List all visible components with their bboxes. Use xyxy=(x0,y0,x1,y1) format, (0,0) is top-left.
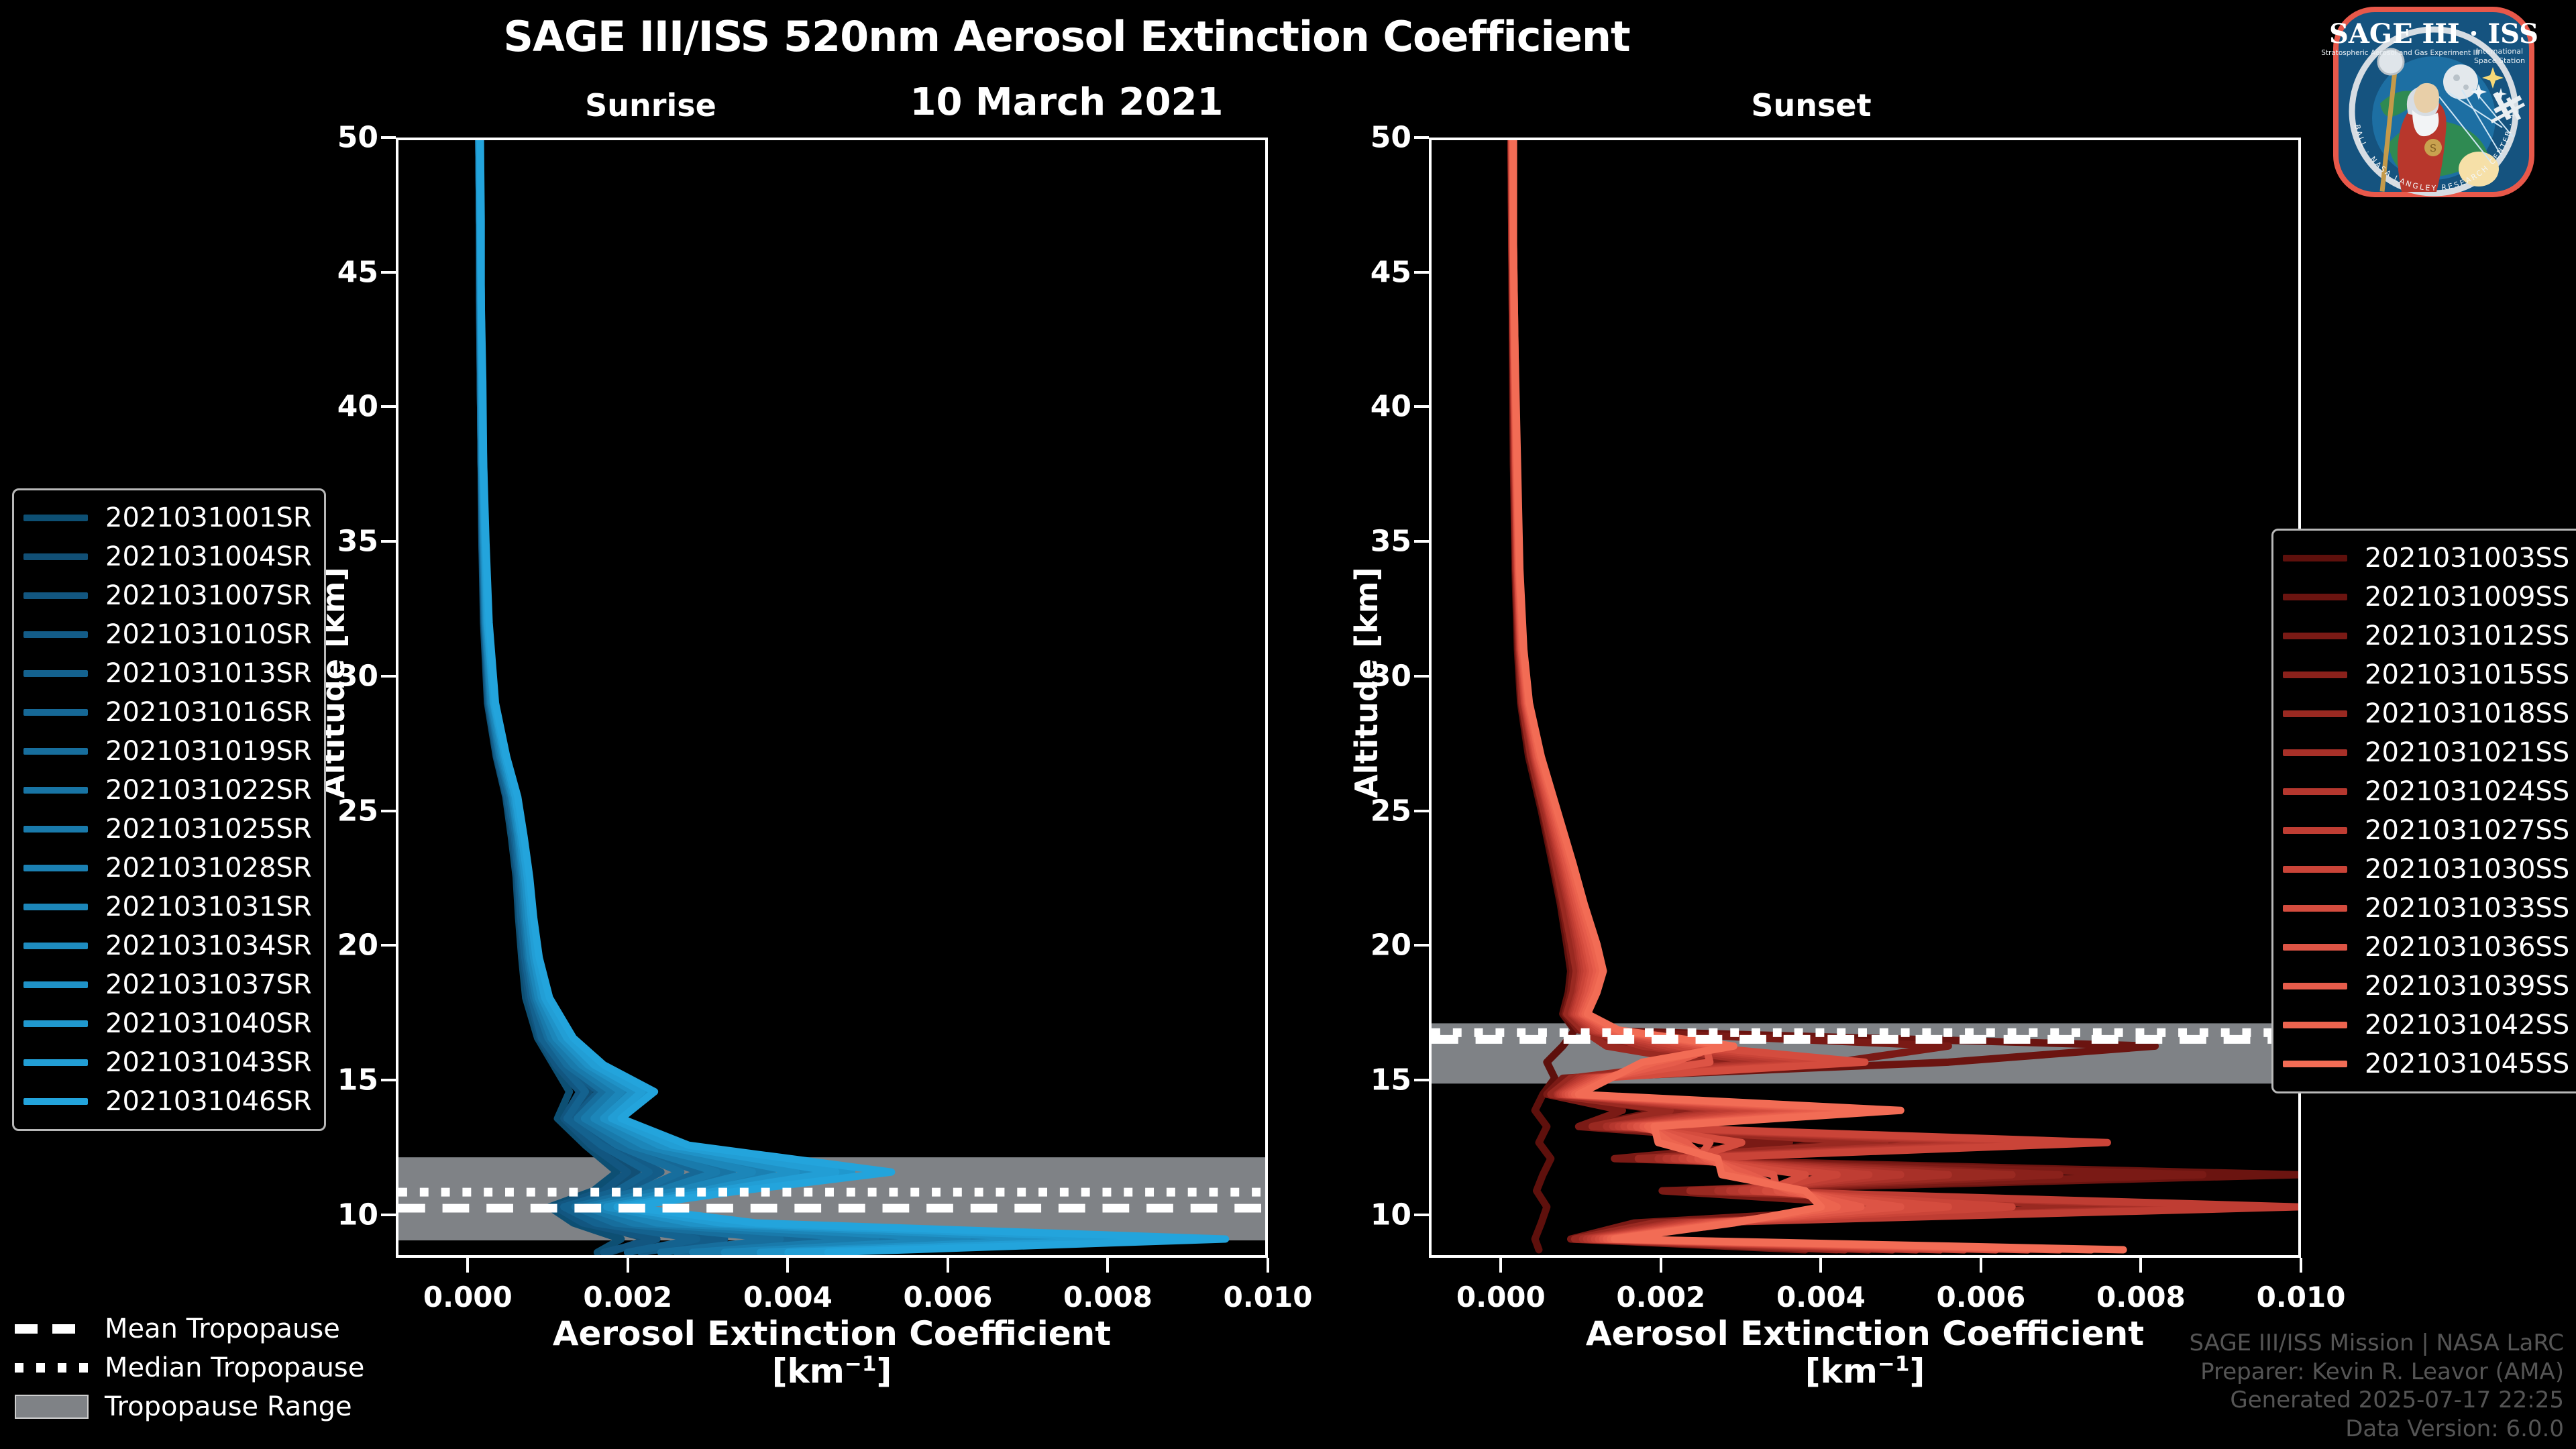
legend-color-swatch xyxy=(2283,1022,2347,1028)
logo-svg: S BALL · NASA LANGLEY RESEARCH CENTER · … xyxy=(2301,3,2569,197)
y-axis-tick-mark xyxy=(1414,675,1429,678)
legend-item-label: 2021031018SS xyxy=(2365,698,2569,729)
legend-item-label: 2021031036SS xyxy=(2365,932,2569,963)
legend-item-label: 2021031016SR xyxy=(105,697,312,728)
x-axis-tick-mark xyxy=(627,1258,629,1273)
y-axis-tick-label: 50 xyxy=(1371,121,1411,155)
tropopause-legend-label: Mean Tropopause xyxy=(105,1313,340,1344)
x-axis-tick-mark xyxy=(947,1258,949,1273)
plot-panel-sunset: 1015202530354045500.0000.0020.0040.0060.… xyxy=(1429,138,2301,1258)
logo-subtitle-right-1: International xyxy=(2476,47,2523,56)
logo-subtitle-left: Stratospheric Aerosol and Gas Experiment… xyxy=(2321,49,2479,57)
legend-item-label: 2021031045SS xyxy=(2365,1049,2569,1079)
legend-item-label: 2021031027SS xyxy=(2365,815,2569,846)
x-axis-tick-mark xyxy=(1819,1258,1822,1273)
x-axis-tick-mark xyxy=(2139,1258,2142,1273)
legend-item[interactable]: 2021031039SS xyxy=(2283,967,2569,1006)
y-axis-tick-mark xyxy=(381,540,396,543)
y-axis-tick-mark xyxy=(381,136,396,139)
x-axis-tick-label: 0.010 xyxy=(2257,1281,2346,1313)
legend-color-swatch xyxy=(2283,905,2347,912)
tropopause-legend-key-dotted xyxy=(15,1363,89,1373)
x-axis-tick-mark xyxy=(466,1258,469,1273)
legend-item-label: 2021031037SR xyxy=(105,969,312,1000)
x-axis-label-text: Aerosol Extinction Coefficient xyxy=(553,1314,1111,1353)
logo-subtitle-right-2: Space Station xyxy=(2474,56,2525,65)
x-axis-tick-label: 0.006 xyxy=(1936,1281,2025,1313)
y-axis-tick-mark xyxy=(1414,944,1429,947)
y-axis-tick-label: 50 xyxy=(337,121,378,155)
legend-color-swatch xyxy=(23,904,88,910)
tropopause-legend-item[interactable]: Tropopause Range xyxy=(15,1387,364,1426)
legend-item[interactable]: 2021031009SS xyxy=(2283,578,2569,616)
legend-item-label: 2021031028SR xyxy=(105,853,312,883)
x-axis-tick-label: 0.006 xyxy=(903,1281,992,1313)
profile-line xyxy=(479,140,875,1252)
legend-color-swatch xyxy=(23,592,88,599)
legend-item[interactable]: 2021031018SS xyxy=(2283,694,2569,733)
x-axis-tick-mark xyxy=(1106,1258,1109,1273)
legend-item[interactable]: 2021031037SR xyxy=(23,965,312,1004)
y-axis-tick-label: 45 xyxy=(1371,255,1411,289)
y-axis-tick-mark xyxy=(381,405,396,408)
x-axis-tick-label: 0.002 xyxy=(583,1281,672,1313)
x-axis-tick-label: 0.004 xyxy=(1776,1281,1866,1313)
x-axis-tick-mark xyxy=(1267,1258,1269,1273)
legend-color-swatch xyxy=(23,981,88,988)
y-axis-tick-mark xyxy=(381,675,396,678)
legend-tropopause[interactable]: Mean TropopauseMedian TropopauseTropopau… xyxy=(15,1309,364,1426)
legend-item-label: 2021031013SR xyxy=(105,658,312,689)
x-axis-unit: [km−1] xyxy=(396,1352,1268,1390)
x-axis-tick-label: 0.010 xyxy=(1224,1281,1313,1313)
legend-item[interactable]: 2021031036SS xyxy=(2283,928,2569,967)
plot-panel-sunrise: 1015202530354045500.0000.0020.0040.0060.… xyxy=(396,138,1268,1258)
svg-text:S: S xyxy=(2430,142,2436,154)
y-axis-tick-mark xyxy=(381,944,396,947)
y-axis-label-sunset: Altitude [km] xyxy=(1348,567,1385,798)
logo-title: SAGE III · ISS xyxy=(2329,18,2538,50)
legend-item-label: 2021031009SS xyxy=(2365,582,2569,612)
y-axis-tick-label: 10 xyxy=(337,1197,378,1232)
profile-line xyxy=(480,140,916,1252)
y-axis-tick-mark xyxy=(1414,405,1429,408)
legend-item-label: 2021031031SR xyxy=(105,892,312,922)
credits-line: SAGE III/ISS Mission | NASA LaRC xyxy=(2189,1329,2564,1358)
legend-sunset[interactable]: 2021031003SS2021031009SS2021031012SS2021… xyxy=(2271,529,2576,1093)
profile-line xyxy=(480,140,828,1252)
profile-line xyxy=(480,140,967,1252)
legend-item-label: 2021031046SR xyxy=(105,1086,312,1117)
y-axis-tick-label: 20 xyxy=(337,928,378,963)
x-axis-label-text: Aerosol Extinction Coefficient xyxy=(1586,1314,2144,1353)
legend-item-label: 2021031039SS xyxy=(2365,971,2569,1002)
legend-color-swatch xyxy=(23,1098,88,1105)
legend-item[interactable]: 2021031027SS xyxy=(2283,811,2569,850)
x-axis-label-sunrise: Aerosol Extinction Coefficient [km−1] xyxy=(396,1315,1268,1390)
tropopause-legend-item[interactable]: Mean Tropopause xyxy=(15,1309,364,1348)
legend-item[interactable]: 2021031034SR xyxy=(23,926,312,965)
y-axis-tick-label: 35 xyxy=(337,525,378,559)
y-axis-tick-label: 20 xyxy=(1371,928,1411,963)
legend-item[interactable]: 2021031003SS xyxy=(2283,539,2569,578)
plot-area-sunset xyxy=(1432,140,2298,1255)
legend-item-label: 2021031040SR xyxy=(105,1008,312,1039)
legend-item-label: 2021031019SR xyxy=(105,736,312,767)
y-axis-tick-label: 25 xyxy=(1371,794,1411,828)
legend-color-swatch xyxy=(2283,594,2347,600)
legend-item[interactable]: 2021031001SR xyxy=(23,498,312,537)
tropopause-legend-key-dashed xyxy=(15,1324,89,1334)
panel-title-sunset: Sunset xyxy=(1556,87,2066,123)
legend-item-label: 2021031025SR xyxy=(105,814,312,845)
x-axis-unit: [km−1] xyxy=(1429,1352,2301,1390)
legend-item[interactable]: 2021031028SR xyxy=(23,849,312,888)
legend-item[interactable]: 2021031045SS xyxy=(2283,1044,2569,1083)
x-axis-tick-label: 0.008 xyxy=(1063,1281,1152,1313)
y-axis-tick-mark xyxy=(1414,1079,1429,1081)
legend-color-swatch xyxy=(2283,633,2347,639)
legend-color-swatch xyxy=(23,1059,88,1066)
y-axis-tick-label: 15 xyxy=(1371,1063,1411,1097)
legend-item[interactable]: 2021031025SR xyxy=(23,810,312,849)
x-axis-tick-label: 0.000 xyxy=(423,1281,513,1313)
y-axis-tick-label: 45 xyxy=(337,255,378,289)
panel-title-sunrise: Sunrise xyxy=(396,87,906,123)
y-axis-tick-mark xyxy=(1414,540,1429,543)
tropopause-legend-label: Median Tropopause xyxy=(105,1352,364,1383)
legend-color-swatch xyxy=(23,709,88,716)
x-axis-label-sunset: Aerosol Extinction Coefficient [km−1] xyxy=(1429,1315,2301,1390)
plot-area-sunrise xyxy=(398,140,1265,1255)
legend-item-label: 2021031022SR xyxy=(105,775,312,806)
x-axis-tick-mark xyxy=(1980,1258,1982,1273)
y-axis-tick-mark xyxy=(381,810,396,812)
y-axis-tick-label: 35 xyxy=(1371,525,1411,559)
legend-color-swatch xyxy=(2283,788,2347,795)
y-axis-tick-label: 40 xyxy=(1371,390,1411,424)
legend-color-swatch xyxy=(2283,944,2347,951)
credits-line: Data Version: 6.0.0 xyxy=(2189,1415,2564,1444)
tropopause-legend-label: Tropopause Range xyxy=(105,1391,352,1422)
tropopause-legend-key-range xyxy=(15,1395,89,1419)
legend-item-label: 2021031001SR xyxy=(105,502,312,533)
x-axis-tick-mark xyxy=(786,1258,789,1273)
legend-item-label: 2021031033SS xyxy=(2365,893,2569,924)
profile-line xyxy=(480,140,1011,1252)
legend-color-swatch xyxy=(23,748,88,755)
legend-color-swatch xyxy=(2283,983,2347,989)
y-axis-tick-mark xyxy=(381,271,396,274)
legend-item-label: 2021031021SS xyxy=(2365,737,2569,768)
legend-item-label: 2021031007SR xyxy=(105,580,312,611)
y-axis-tick-mark xyxy=(1414,136,1429,139)
credits-line: Preparer: Kevin R. Leavor (AMA) xyxy=(2189,1358,2564,1387)
x-axis-tick-mark xyxy=(1499,1258,1502,1273)
legend-color-swatch xyxy=(2283,749,2347,756)
legend-item-label: 2021031043SR xyxy=(105,1047,312,1078)
legend-item[interactable]: 2021031015SS xyxy=(2283,655,2569,694)
y-axis-tick-mark xyxy=(1414,1214,1429,1216)
legend-sunrise[interactable]: 2021031001SR2021031004SR2021031007SR2021… xyxy=(12,488,326,1131)
legend-color-swatch xyxy=(2283,555,2347,561)
legend-item[interactable]: 2021031004SR xyxy=(23,537,312,576)
legend-color-swatch xyxy=(23,787,88,794)
legend-color-swatch xyxy=(23,865,88,871)
y-axis-tick-mark xyxy=(1414,810,1429,812)
page-title: SAGE III/ISS 520nm Aerosol Extinction Co… xyxy=(0,12,2133,61)
sage-iii-iss-mission-patch-logo: S BALL · NASA LANGLEY RESEARCH CENTER · … xyxy=(2301,3,2569,197)
legend-item[interactable]: 2021031043SR xyxy=(23,1043,312,1082)
legend-item[interactable]: 2021031024SS xyxy=(2283,772,2569,811)
legend-item[interactable]: 2021031010SR xyxy=(23,615,312,654)
legend-color-swatch xyxy=(23,553,88,560)
y-axis-tick-label: 10 xyxy=(1371,1197,1411,1232)
legend-color-swatch xyxy=(2283,827,2347,834)
legend-item[interactable]: 2021031012SS xyxy=(2283,616,2569,655)
plot-frame-sunset xyxy=(1429,138,2301,1258)
tropopause-legend-item[interactable]: Median Tropopause xyxy=(15,1348,364,1387)
legend-item-label: 2021031012SS xyxy=(2365,621,2569,651)
legend-color-swatch xyxy=(23,943,88,949)
legend-color-swatch xyxy=(23,515,88,521)
legend-item[interactable]: 2021031019SR xyxy=(23,732,312,771)
legend-color-swatch xyxy=(23,631,88,638)
legend-item[interactable]: 2021031040SR xyxy=(23,1004,312,1043)
legend-item-label: 2021031024SS xyxy=(2365,776,2569,807)
legend-item[interactable]: 2021031007SR xyxy=(23,576,312,615)
x-axis-tick-label: 0.002 xyxy=(1616,1281,1705,1313)
x-axis-tick-label: 0.000 xyxy=(1456,1281,1546,1313)
legend-item[interactable]: 2021031031SR xyxy=(23,888,312,926)
legend-item-label: 2021031030SS xyxy=(2365,854,2569,885)
legend-item[interactable]: 2021031022SR xyxy=(23,771,312,810)
legend-item[interactable]: 2021031033SS xyxy=(2283,889,2569,928)
y-axis-tick-mark xyxy=(1414,271,1429,274)
legend-item[interactable]: 2021031030SS xyxy=(2283,850,2569,889)
x-axis-tick-label: 0.004 xyxy=(743,1281,833,1313)
legend-item[interactable]: 2021031046SR xyxy=(23,1082,312,1121)
legend-color-swatch xyxy=(2283,866,2347,873)
legend-item-label: 2021031034SR xyxy=(105,930,312,961)
y-axis-tick-label: 40 xyxy=(337,390,378,424)
legend-item[interactable]: 2021031042SS xyxy=(2283,1006,2569,1044)
legend-color-swatch xyxy=(23,670,88,677)
credits-line: Generated 2025-07-17 22:25 xyxy=(2189,1386,2564,1415)
x-axis-tick-mark xyxy=(2300,1258,2302,1273)
x-axis-tick-mark xyxy=(1660,1258,1662,1273)
legend-item[interactable]: 2021031016SR xyxy=(23,693,312,732)
legend-color-swatch xyxy=(23,1020,88,1027)
legend-item-label: 2021031004SR xyxy=(105,541,312,572)
legend-item-label: 2021031003SS xyxy=(2365,543,2569,574)
y-axis-tick-label: 25 xyxy=(337,794,378,828)
legend-item[interactable]: 2021031013SR xyxy=(23,654,312,693)
legend-color-swatch xyxy=(23,826,88,833)
plot-frame-sunrise xyxy=(396,138,1268,1258)
legend-item[interactable]: 2021031021SS xyxy=(2283,733,2569,772)
y-axis-tick-label: 15 xyxy=(337,1063,378,1097)
legend-item-label: 2021031015SS xyxy=(2365,659,2569,690)
legend-color-swatch xyxy=(2283,1061,2347,1067)
x-axis-tick-label: 0.008 xyxy=(2096,1281,2186,1313)
y-axis-tick-mark xyxy=(381,1079,396,1081)
legend-color-swatch xyxy=(2283,672,2347,678)
legend-color-swatch xyxy=(2283,710,2347,717)
y-axis-tick-mark xyxy=(381,1214,396,1216)
credits-block: SAGE III/ISS Mission | NASA LaRCPreparer… xyxy=(2189,1329,2564,1444)
legend-item-label: 2021031042SS xyxy=(2365,1010,2569,1040)
legend-item-label: 2021031010SR xyxy=(105,619,312,650)
